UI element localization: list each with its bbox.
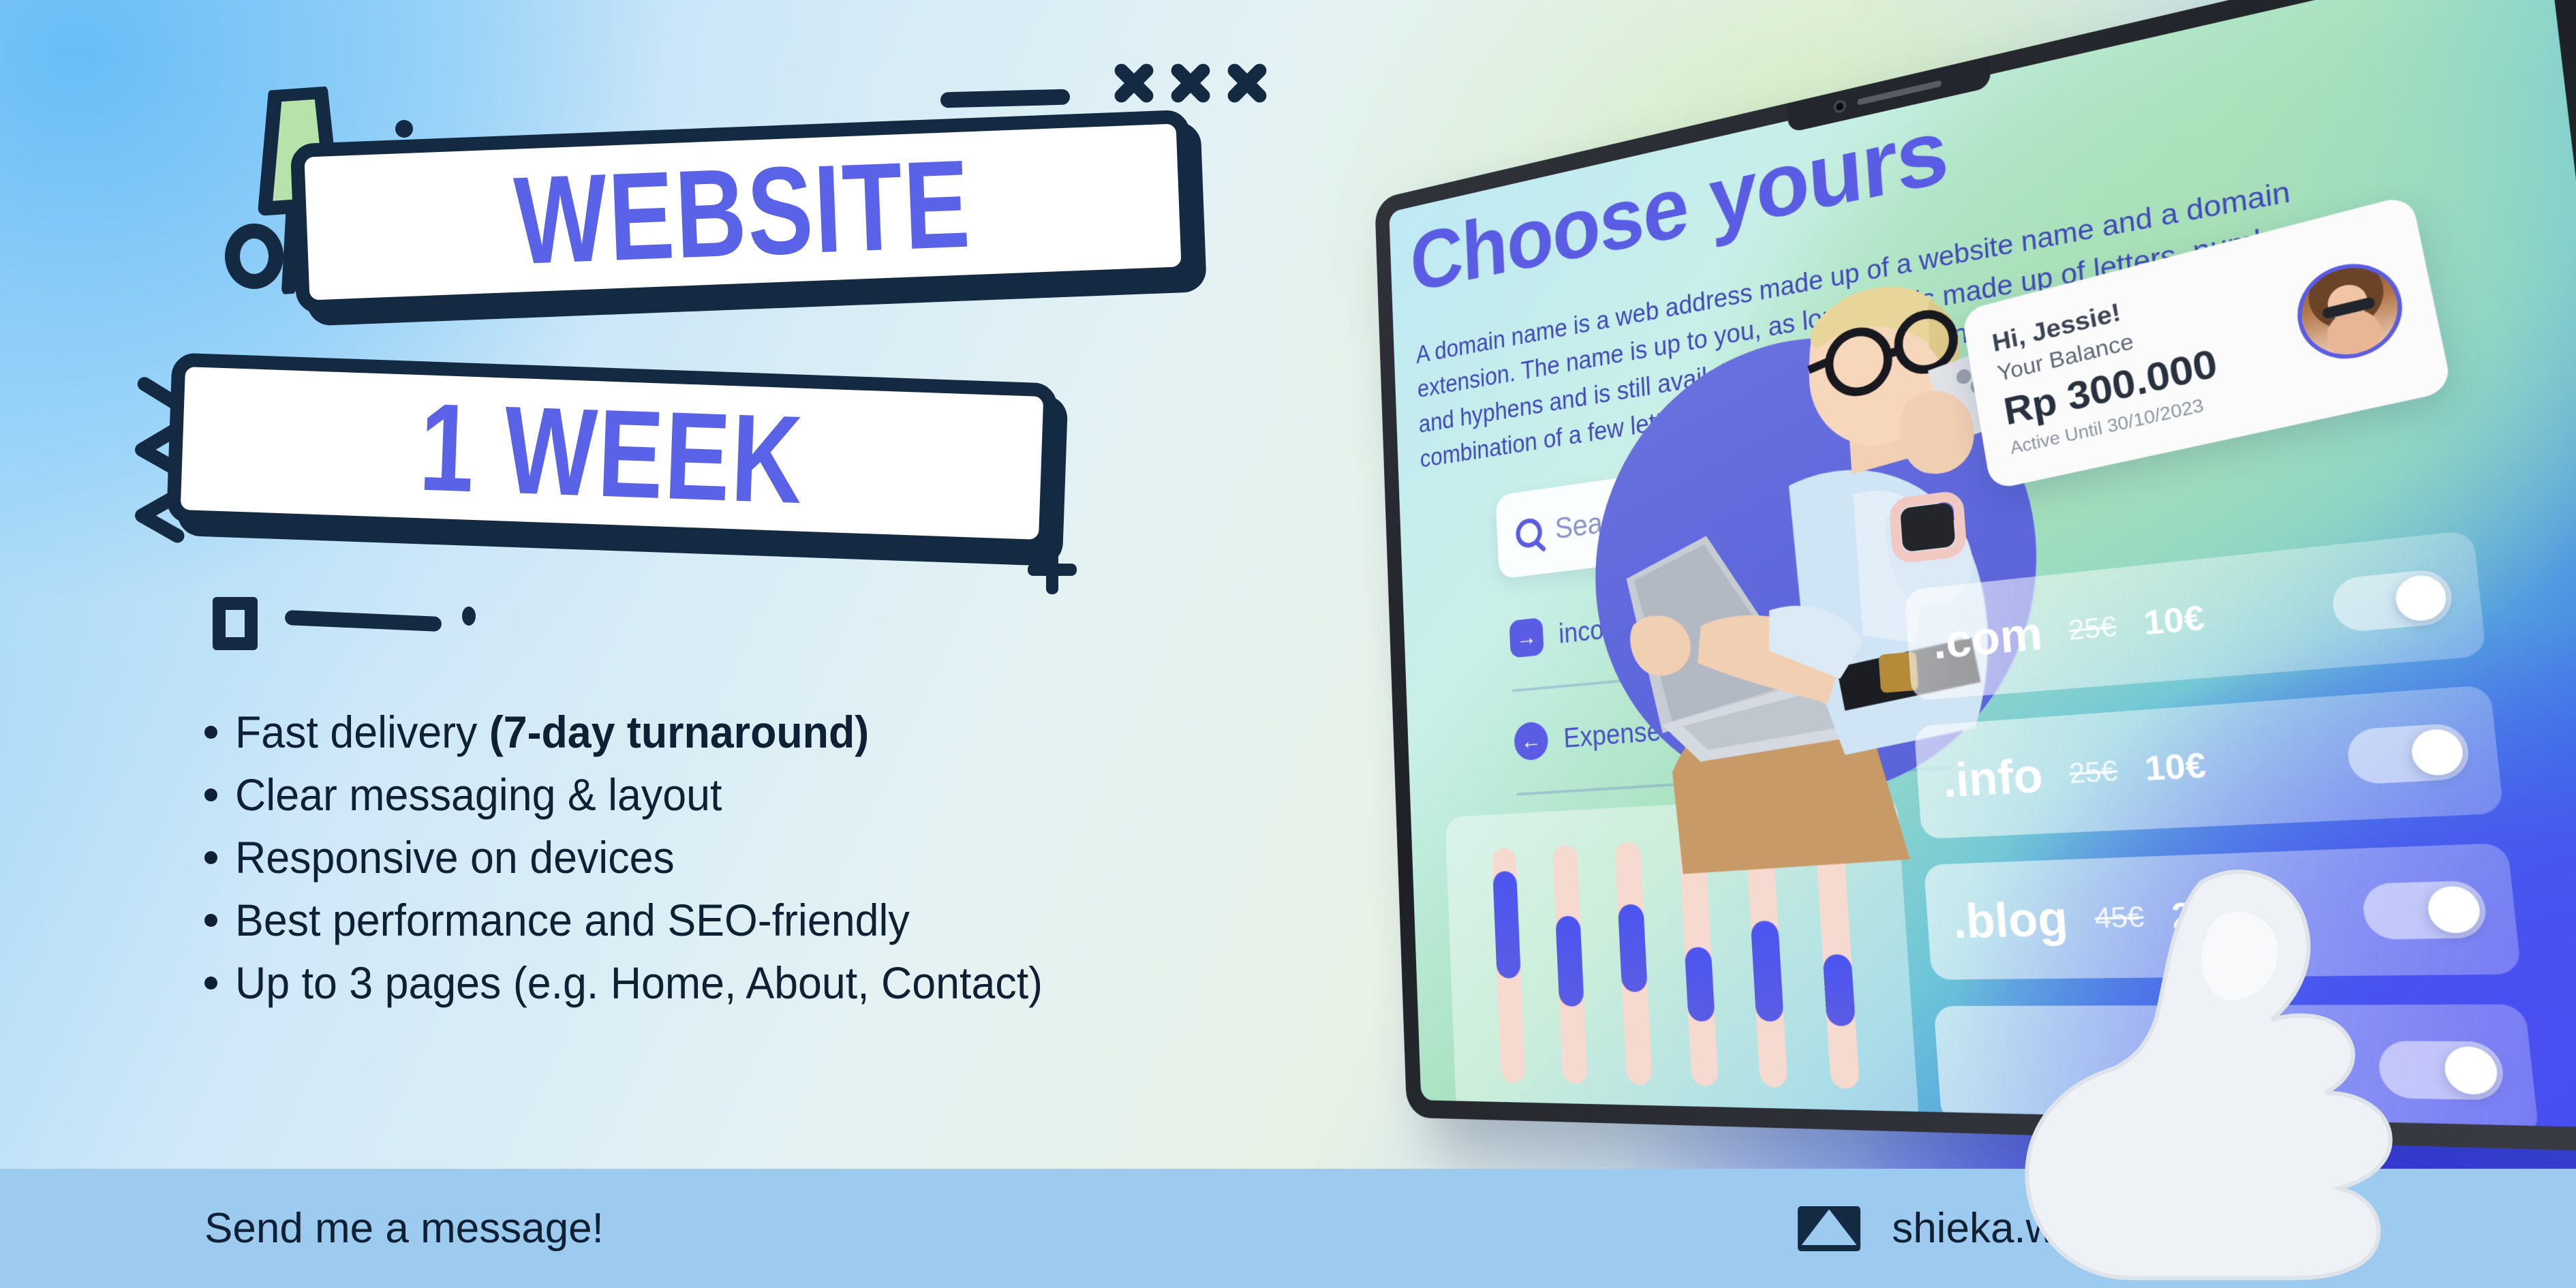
balance-card-text: Hi, Jessie! Your Balance Rp 300.000 Acti… xyxy=(1990,277,2226,459)
list-item: Best performance and SEO-friendly xyxy=(204,897,1404,945)
bar-fill xyxy=(1685,947,1715,1021)
domain-old-price: 25€ xyxy=(2068,754,2118,790)
domain-old-price: 25€ xyxy=(2068,610,2118,647)
list-item: Responsive on devices xyxy=(204,834,1404,882)
envelope-icon xyxy=(1798,1206,1860,1251)
feature-text: Clear messaging & layout xyxy=(235,771,722,819)
pointing-hand-icon xyxy=(1997,831,2474,1281)
domain-name: .com xyxy=(1931,606,2044,669)
feature-text: Responsive on devices xyxy=(235,834,675,882)
bullet-dot-icon xyxy=(204,851,217,864)
feature-text: Up to 3 pages (e.g. Home, About, Contact… xyxy=(235,960,1043,1007)
domain-toggle[interactable] xyxy=(2346,722,2471,785)
toggle-knob xyxy=(2394,573,2449,622)
plus-icon xyxy=(1028,545,1077,594)
domain-row[interactable]: .info25€10€ xyxy=(1914,685,2504,839)
headline-line-2: 1 WEEK xyxy=(418,375,807,532)
feature-text: Best performance and SEO-friendly xyxy=(235,897,910,945)
headline-line-1: WEBSITE xyxy=(512,132,973,293)
dash-icon xyxy=(285,610,442,632)
x-mark-icon xyxy=(1111,60,1157,106)
feature-list: Fast delivery (7-day turnaround) Clear m… xyxy=(204,709,1404,1022)
dot-icon xyxy=(462,607,476,626)
x-mark-icon xyxy=(1224,60,1270,106)
feature-text: Fast delivery (7-day turnaround) xyxy=(235,709,869,756)
arrow-right-icon: → xyxy=(1509,617,1544,658)
bullet-dot-icon xyxy=(204,788,217,801)
banner-canvas: WEBSITE 1 WEEK Fast delivery (7-day turn… xyxy=(0,0,2576,1288)
bullet-dot-icon xyxy=(204,977,217,990)
bar-track xyxy=(1492,848,1526,1083)
avatar xyxy=(2290,253,2411,369)
headline-block: WEBSITE 1 WEEK xyxy=(0,0,1295,613)
list-item: Fast delivery (7-day turnaround) xyxy=(204,709,1404,756)
bar-track xyxy=(1552,844,1589,1084)
bullet-dot-icon xyxy=(204,726,217,739)
list-item: Up to 3 pages (e.g. Home, About, Contact… xyxy=(204,960,1404,1007)
headline-banner-primary: WEBSITE xyxy=(290,110,1196,314)
list-item: Clear messaging & layout xyxy=(204,771,1404,819)
bar-fill xyxy=(1617,904,1647,992)
bullet-dot-icon xyxy=(204,914,217,927)
domain-new-price: 10€ xyxy=(2142,598,2206,643)
x-mark-icon xyxy=(1167,60,1214,106)
bar-fill xyxy=(1492,871,1521,979)
circle-outline-icon xyxy=(225,224,283,289)
arrow-left-icon: ← xyxy=(1514,721,1549,761)
bar-fill xyxy=(1555,916,1584,1007)
dot-icon xyxy=(395,120,413,138)
toggle-knob xyxy=(2410,728,2465,776)
dash-icon xyxy=(940,89,1071,108)
bar-fill xyxy=(1822,954,1856,1026)
device-mockup: Choose yours A domain name is a web addr… xyxy=(1315,102,2542,1165)
footer-cta: Send me a message! xyxy=(204,1204,604,1253)
domain-new-price: 10€ xyxy=(2143,746,2208,789)
domain-toggle[interactable] xyxy=(2331,568,2455,633)
bar-fill xyxy=(1751,920,1784,1021)
webcam-icon xyxy=(1833,98,1846,114)
x-marks-group xyxy=(1111,60,1270,106)
square-outline-icon xyxy=(213,597,258,650)
domain-name: .info xyxy=(1941,748,2044,808)
search-icon xyxy=(1516,517,1543,549)
headline-banner-secondary: 1 WEEK xyxy=(166,352,1058,553)
